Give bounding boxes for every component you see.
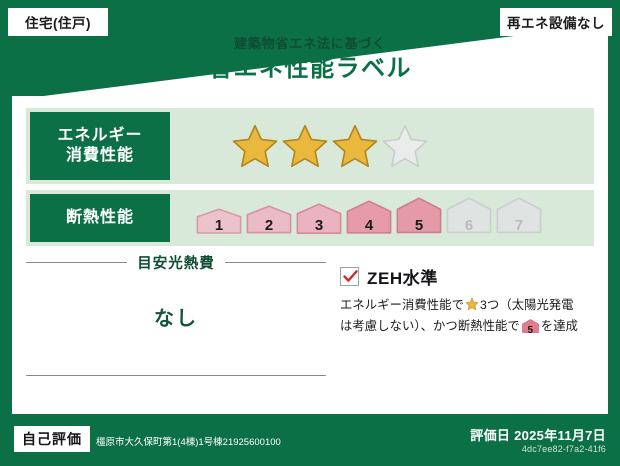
utility-cost-heading: 目安光熱費 [26,252,326,272]
zeh-desc-part3: を達成 [541,319,578,333]
zeh-checkbox[interactable] [340,267,359,286]
label-panel: エネルギー消費性能 断熱性能 1234567 目安光熱費 なし [12,96,608,414]
star-rating [174,123,428,169]
house-icon-achieved [296,203,342,234]
house-icon-achieved [396,197,442,233]
energy-performance-label: 建築物省エネ法に基づく 省エネ性能ラベル 住宅(住戸) 再エネ設備なし エネルギ… [0,0,620,466]
house-level-3: 3 [296,203,342,239]
star-empty-icon [382,123,428,169]
energy-performance-rating [174,108,594,184]
self-evaluation-badge: 自己評価 [14,426,90,452]
utility-cost-heading-text: 目安光熱費 [127,252,225,273]
label-subtitle: 建築物省エネ法に基づく [0,36,620,52]
label-title: 省エネ性能ラベル [0,53,620,84]
building-type-tag: 住宅(住戸) [8,8,108,36]
energy-performance-row: エネルギー消費性能 [26,108,594,184]
zeh-section: ZEH水準 エネルギー消費性能で3つ（太陽光発電は考慮しない）、かつ断熱性能で5… [340,252,594,400]
house-level-scale: 1234567 [174,197,542,238]
utility-cost-bottom-rule [26,375,326,376]
evaluation-date: 評価日 2025年11月7日 [470,425,606,444]
utility-cost-value: なし [26,302,326,331]
inline-star-icon [465,300,479,314]
insulation-performance-row: 断熱性能 1234567 [26,190,594,246]
utility-cost-section: 目安光熱費 なし [26,252,326,400]
energy-performance-label-box: エネルギー消費性能 [30,112,170,180]
energy-performance-label-text: エネルギー消費性能 [57,126,142,166]
house-level-7: 7 [496,197,542,238]
house-level-4: 4 [346,200,392,239]
inline-house-number: 5 [522,323,539,339]
inline-house-icon: 5 [522,319,539,339]
label-footer: 自己評価 橿原市大久保町第1(4棟)1号棟21925600100 評価日 202… [0,414,620,466]
insulation-performance-rating: 1234567 [174,190,594,246]
house-level-1: 1 [196,208,242,239]
house-icon-unachieved [446,197,492,233]
zeh-title: ZEH水準 [367,264,438,289]
zeh-heading: ZEH水準 [340,264,594,289]
label-title-block: 建築物省エネ法に基づく 省エネ性能ラベル [0,36,620,84]
insulation-performance-label-text: 断熱性能 [66,208,134,228]
house-icon-unachieved [496,197,542,233]
lower-section: 目安光熱費 なし ZEH水準 エネルギー消費性能で3つ（太陽光発電は考慮しない）… [26,252,594,400]
star-filled-icon [332,123,378,169]
house-icon-achieved [246,205,292,234]
house-level-6: 6 [446,197,492,238]
zeh-desc-part1: エネルギー消費性能で [340,298,464,312]
zeh-desc-part2: は考慮しない）、かつ断熱性能で [340,319,520,333]
house-icon-achieved [346,200,392,234]
zeh-description: エネルギー消費性能で3つ（太陽光発電は考慮しない）、かつ断熱性能で5を達成 [340,296,594,339]
insulation-performance-label-box: 断熱性能 [30,194,170,242]
renewable-equipment-tag: 再エネ設備なし [500,8,612,36]
evaluation-id: 4dc7ee82-f7a2-41f6 [522,444,606,454]
property-address: 橿原市大久保町第1(4棟)1号棟21925600100 [96,434,281,448]
house-level-5: 5 [396,197,442,238]
star-filled-icon [282,123,328,169]
house-icon-achieved [196,208,242,234]
check-icon [342,268,359,285]
house-level-2: 2 [246,205,292,239]
star-filled-icon [232,123,278,169]
zeh-desc-stars: 3つ（太陽光発電 [480,298,574,312]
